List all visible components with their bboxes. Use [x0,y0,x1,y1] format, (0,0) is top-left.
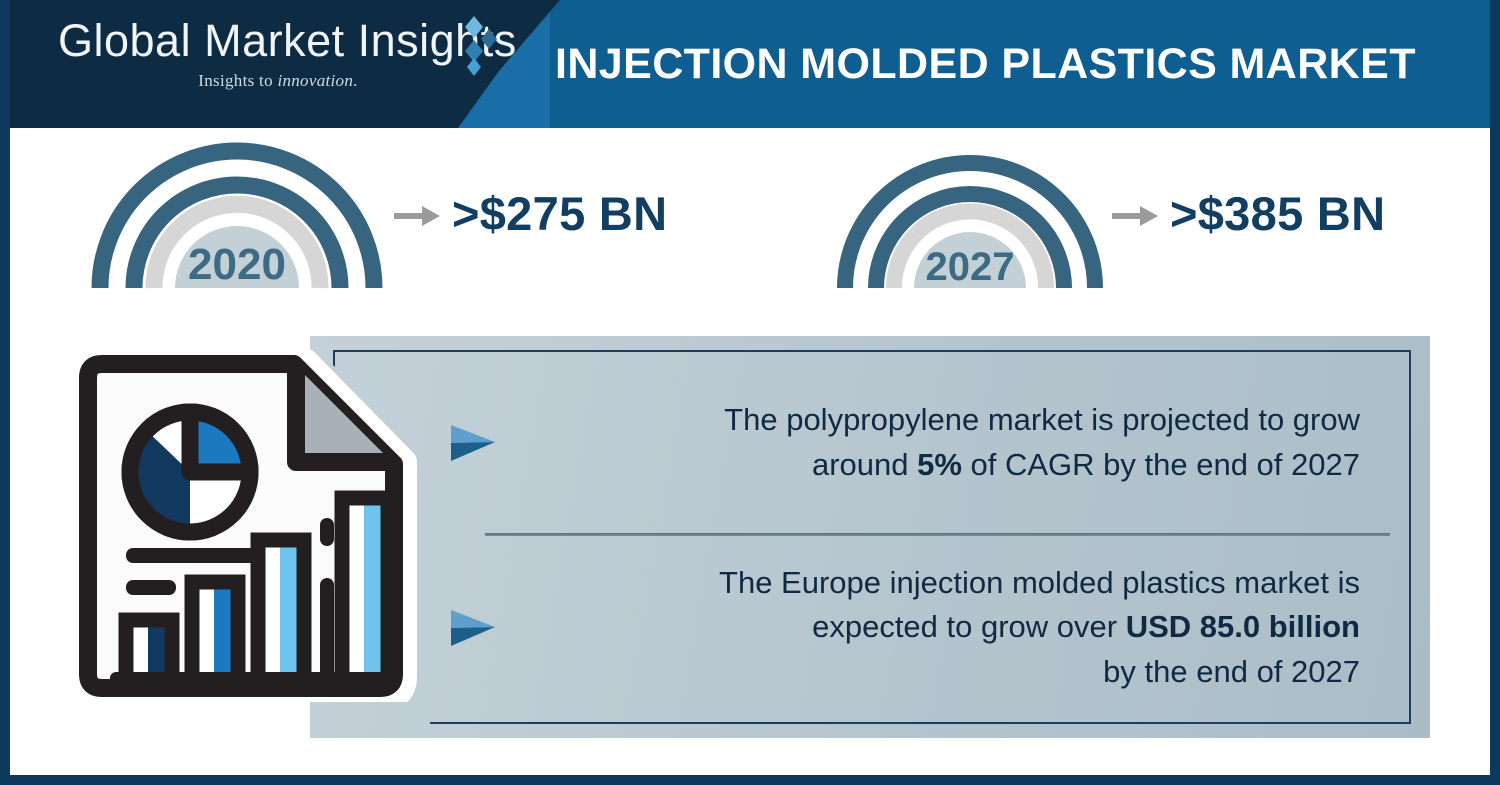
gauges-row: 2020 >$275 BN 2027 [10,128,1490,318]
bullet-arrow-1 [443,421,505,465]
header-bar: Global Market Insights Insights to innov… [10,0,1490,128]
insight-1-line2-suffix: of CAGR by the end of 2027 [962,447,1360,482]
insight-2-line-1: The Europe injection molded plastics mar… [505,561,1360,605]
insight-text-2: The Europe injection molded plastics mar… [505,561,1378,693]
insight-2-line-2: expected to grow over USD 85.0 billion [505,605,1360,649]
tagline-prefix: Insights to [198,71,277,90]
gauge-arrow-icon-2020 [394,203,442,229]
page-title: INJECTION MOLDED PLASTICS MARKET [555,0,1475,128]
body-area: 2020 >$275 BN 2027 [10,128,1490,775]
report-document-chart-icon [74,350,434,702]
gauge-value-2027: >$385 BN [1170,186,1385,241]
tagline-italic: innovation [277,71,353,90]
chevron-right-arrow-icon [449,606,499,650]
diamond-cluster-icon [458,16,498,78]
gauge-arc-2020: 2020 [82,136,392,296]
insight-bullet-1: The polypropylene market is projected to… [443,360,1378,525]
infographic-root: Global Market Insights Insights to innov… [0,0,1500,785]
insights-divider [485,533,1390,536]
brand-tagline: Insights to innovation. [58,71,498,91]
gauge-arc-2027: 2027 [830,136,1110,296]
insight-2-line-3: by the end of 2027 [505,650,1360,694]
gauge-year-2020: 2020 [188,240,286,289]
gauge-2027: 2027 >$385 BN [830,136,1385,296]
brand-name: Global Market Insights [58,18,498,63]
insight-2-line2-prefix: expected to grow over [812,609,1126,644]
insight-1-line-2: around 5% of CAGR by the end of 2027 [505,443,1360,487]
insights-panel: The polypropylene market is projected to… [333,350,1411,724]
insight-2-highlight: USD 85.0 billion [1126,609,1360,644]
insight-bullet-2: The Europe injection molded plastics mar… [443,540,1378,715]
bullet-arrow-2 [443,606,505,650]
gauge-arrow-icon-2027 [1112,203,1160,229]
insight-text-1: The polypropylene market is projected to… [505,398,1378,486]
insight-1-highlight: 5% [917,447,962,482]
insight-1-line2-prefix: around [812,447,917,482]
gauge-2020: 2020 >$275 BN [82,136,667,296]
brand-logo: Global Market Insights Insights to innov… [58,18,498,91]
gauge-year-2027: 2027 [926,245,1015,289]
insight-1-line-1: The polypropylene market is projected to… [505,398,1360,442]
tagline-suffix: . [353,71,358,90]
chevron-right-arrow-icon [449,421,499,465]
gauge-value-2020: >$275 BN [452,186,667,241]
